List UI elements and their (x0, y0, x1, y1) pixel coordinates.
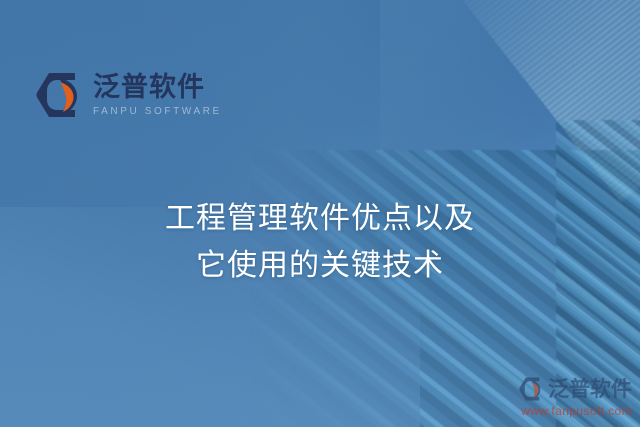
brand-logo: 泛普软件 FANPU SOFTWARE (34, 70, 222, 120)
page-title-line-2: 它使用的关键技术 (0, 243, 640, 290)
brand-logo-text: 泛普软件 FANPU SOFTWARE (93, 71, 222, 119)
page-title-line-1: 工程管理软件优点以及 (0, 196, 640, 243)
fanpu-sail-mark-icon (34, 70, 84, 120)
brand-name-en: FANPU SOFTWARE (93, 104, 222, 119)
fanpu-sail-mark-icon (518, 376, 544, 402)
brand-name-cn: 泛普软件 (93, 73, 222, 102)
watermark-url: www.fanpusoft.com (496, 404, 632, 418)
watermark: 泛普软件 www.fanpusoft.com (496, 376, 632, 418)
promo-banner: 泛普软件 FANPU SOFTWARE 工程管理软件优点以及 它使用的关键技术 … (0, 0, 640, 427)
watermark-brand-row: 泛普软件 (496, 376, 632, 402)
watermark-brand-name: 泛普软件 (548, 379, 632, 400)
page-title: 工程管理软件优点以及 它使用的关键技术 (0, 196, 640, 289)
